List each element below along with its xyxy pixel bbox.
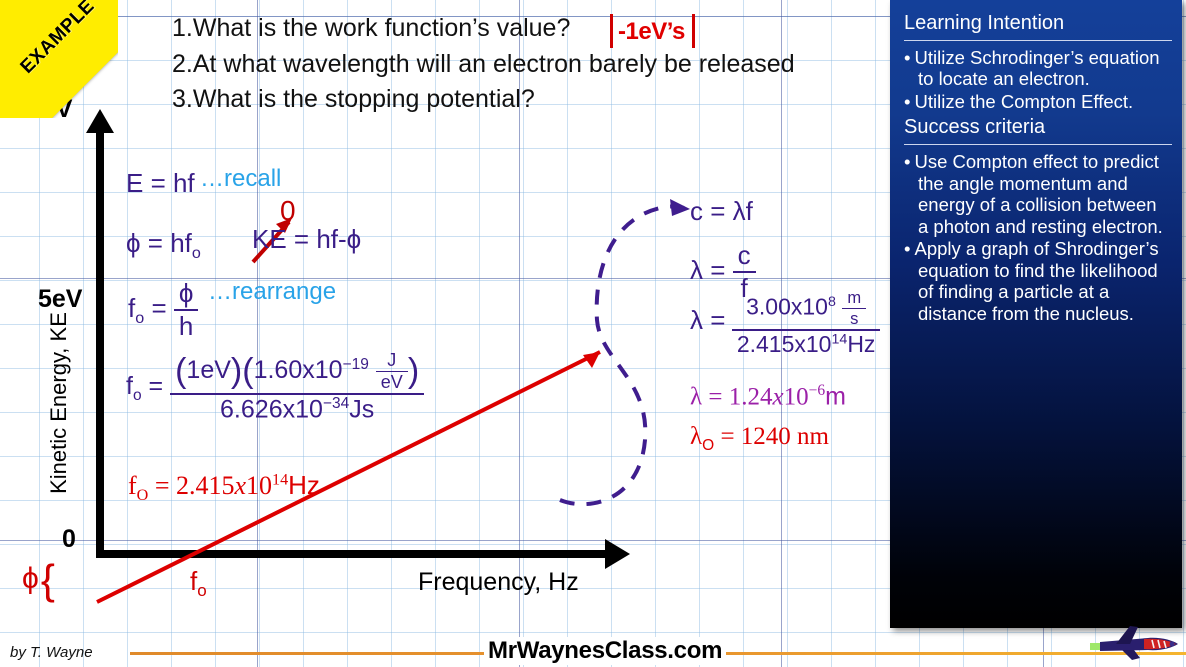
big-sub: o: [133, 387, 142, 404]
answer-value: -1eV’s: [618, 18, 685, 45]
example-corner-banner: EXAMPLE: [0, 0, 118, 118]
equation-work-function: ϕ = hfo: [126, 228, 201, 263]
lambda-big-lead: λ =: [690, 305, 725, 335]
work-function-answer: -1eV’s: [610, 14, 695, 48]
lambda-den-exponent: 14: [831, 331, 847, 347]
c-over-f-numerator: c: [733, 240, 756, 271]
learning-intention-list: Utilize Schrodinger’s equation to locate…: [904, 47, 1172, 112]
threshold-sub: o: [197, 581, 206, 600]
big-lead: f: [126, 372, 133, 400]
note-recall: …recall: [200, 165, 281, 193]
lambda0-value: = 1240 nm: [714, 423, 829, 450]
paren-close-1: ): [231, 352, 242, 390]
result-threshold-wavelength: λO = 1240 nm: [690, 422, 829, 455]
lambda-numerator: 3.00x108 m s: [732, 288, 881, 329]
answer-right-bar: [692, 14, 695, 48]
lambda-den-unit: Hz: [847, 331, 875, 357]
question-item-2: 2.At what wavelength will an electron ba…: [172, 48, 872, 81]
big-fraction: ((1eV)1eV)(1.60x10−19 J eV ) 6.626x10−34…: [170, 350, 424, 424]
y-axis-title: Kinetic Energy, KE: [46, 308, 72, 498]
paren-close-2: ): [408, 352, 419, 390]
answer-left-bar: [610, 14, 613, 48]
big-equals: =: [149, 372, 164, 400]
author-byline: by T. Wayne: [10, 644, 93, 661]
unit-denominator: eV: [376, 371, 408, 393]
brace-glyph: {: [41, 556, 55, 603]
phi-symbol: ϕ: [22, 562, 39, 595]
wavelength-lead: λ = 1.24: [690, 383, 772, 410]
work-function-sub: o: [192, 244, 201, 262]
result-lead: f: [128, 471, 137, 500]
speed-unit-denominator: s: [842, 308, 866, 329]
unit-numerator: J: [376, 350, 408, 371]
x-axis-title: Frequency, Hz: [418, 568, 579, 597]
success-criteria-item: Apply a graph of Shrodinger’s equation t…: [904, 238, 1172, 324]
result-equals: = 2.415: [155, 471, 235, 500]
question-item-3: 3.What is the stopping potential?: [172, 83, 872, 116]
objectives-sidebar: Learning Intention Utilize Schrodinger’s…: [890, 0, 1182, 628]
lambda-num-exponent: 8: [828, 294, 836, 310]
learning-intention-title: Learning Intention: [904, 12, 1172, 41]
paren-open-1: (: [175, 352, 186, 390]
learning-intention-item: Utilize Schrodinger’s equation to locate…: [904, 47, 1172, 90]
speed-unit-numerator: m: [842, 288, 866, 308]
y-axis-zero-label: 0: [62, 525, 76, 554]
question-text-2: At what wavelength will an electron bare…: [193, 50, 795, 78]
equation-energy-photon: E = hf: [126, 168, 195, 199]
equation-wave-speed: c = λf: [690, 196, 753, 227]
result-times: x: [234, 471, 246, 500]
work-function-brace: ϕ{: [22, 556, 55, 604]
question-number-1: 1.: [172, 12, 193, 45]
lambda0-sub: O: [702, 437, 714, 454]
wavelength-exponent: −6: [809, 382, 826, 399]
work-function-lead: ϕ = hf: [126, 228, 192, 258]
fraction-phi-over-h: ϕ h: [174, 278, 199, 342]
result-wavelength-meters: λ = 1.24x10−6m: [690, 382, 846, 411]
lambda0-symbol: λ: [690, 423, 702, 450]
question-text-1: What is the work function’s value?: [193, 14, 571, 42]
equation-lambda-substituted: λ = 3.00x108 m s 2.415x1014Hz: [690, 288, 880, 358]
result-unit: Hz: [288, 470, 320, 500]
x-axis: [96, 550, 608, 558]
question-item-1: 1.What is the work function’s value?: [172, 12, 872, 45]
learning-intention-item: Utilize the Compton Effect.: [904, 91, 1172, 112]
fo-equals: =: [151, 293, 166, 323]
lambda-lead: λ =: [690, 255, 725, 285]
lambda-num-mantissa: 3.00x10: [746, 294, 828, 320]
fo-sub: o: [135, 309, 144, 327]
result-exponent: 14: [272, 471, 288, 488]
denominator-exponent: −34: [323, 395, 349, 412]
question-list: 1.What is the work function’s value? 2.A…: [172, 12, 872, 119]
result-threshold-frequency: fO = 2.415x1014Hz: [128, 470, 320, 505]
wavelength-base: 10: [784, 383, 809, 410]
wavelength-times: x: [772, 383, 783, 410]
question-number-3: 3.: [172, 83, 193, 116]
rocket-icon: [1086, 620, 1182, 664]
numerator-exponent: −19: [343, 356, 369, 373]
denominator-unit: Js: [349, 395, 374, 423]
paren-open-2: (: [242, 352, 253, 390]
note-rearrange: …rearrange: [208, 278, 336, 306]
denominator-mantissa: 6.626x10: [220, 395, 323, 423]
site-name[interactable]: MrWaynesClass.com: [484, 637, 726, 665]
big-numerator: ((1eV)1eV)(1.60x10−19 J eV ): [170, 350, 424, 393]
big-denominator: 6.626x10−34Js: [170, 393, 424, 424]
equation-kinetic-energy: KE = hf-ϕ: [252, 224, 361, 255]
equation-threshold-rearranged: fo = ϕ h: [128, 278, 198, 342]
result-base: 10: [246, 471, 272, 500]
lambda-denominator: 2.415x1014Hz: [732, 329, 881, 358]
question-number-2: 2.: [172, 48, 193, 81]
unit-fraction-j-per-ev: J eV: [376, 350, 408, 393]
numerator-text-1: 1eV: [186, 356, 230, 384]
equation-threshold-substituted: fo = ((1eV)1eV)(1.60x10−19 J eV ) 6.626x…: [126, 350, 424, 424]
lambda-big-fraction: 3.00x108 m s 2.415x1014Hz: [732, 288, 881, 358]
unit-fraction-m-per-s: m s: [842, 288, 866, 329]
success-criteria-list: Use Compton effect to predict the angle …: [904, 151, 1172, 324]
lambda-den-mantissa: 2.415x10: [737, 331, 832, 357]
success-criteria-title: Success criteria: [904, 116, 1172, 145]
y-axis: [96, 130, 104, 558]
result-sub: O: [137, 487, 149, 504]
fraction-denominator: h: [174, 309, 199, 342]
banner-triangle: [0, 0, 118, 118]
threshold-frequency-label: fo: [190, 566, 207, 601]
fraction-numerator: ϕ: [174, 278, 199, 309]
ke-zero-annotation: 0: [280, 195, 296, 227]
wavelength-unit: m: [825, 382, 846, 410]
numerator-part-2: 1.60x10: [254, 356, 343, 384]
success-criteria-item: Use Compton effect to predict the angle …: [904, 151, 1172, 237]
question-text-3: What is the stopping potential?: [193, 85, 535, 113]
